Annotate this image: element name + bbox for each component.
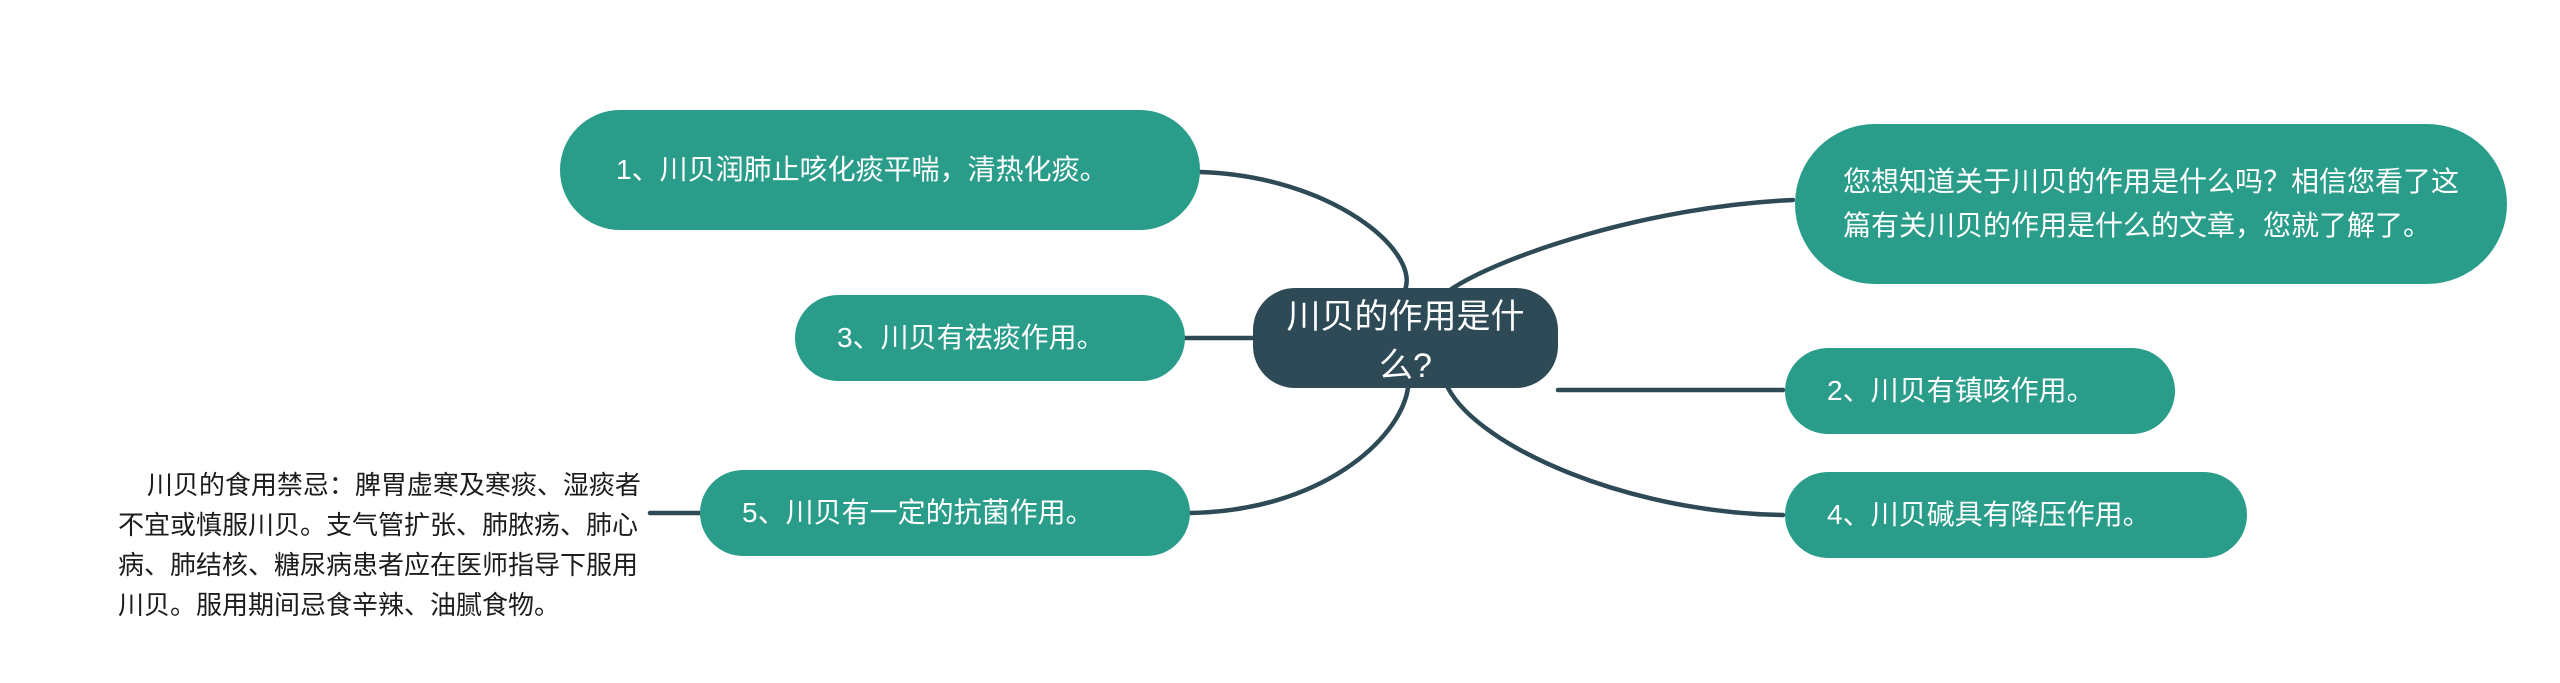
branch-node-label-point-5: 5、川贝有一定的抗菌作用。 xyxy=(742,493,1160,533)
taboo-note-label: 川贝的食用禁忌：脾胃虚寒及寒痰、湿痰者不宜或慎服川贝。支气管扩张、肺脓疡、肺心病… xyxy=(118,470,641,620)
branch-node-label-point-3: 3、川贝有祛痰作用。 xyxy=(837,318,1155,358)
branch-node-label-point-1: 1、川贝润肺止咳化痰平喘，清热化痰。 xyxy=(616,148,1160,192)
branch-node-point-3[interactable]: 3、川贝有祛痰作用。 xyxy=(795,295,1185,381)
taboo-note: 川贝的食用禁忌：脾胃虚寒及寒痰、湿痰者不宜或慎服川贝。支气管扩张、肺脓疡、肺心病… xyxy=(118,425,648,665)
branch-node-point-1[interactable]: 1、川贝润肺止咳化痰平喘，清热化痰。 xyxy=(560,110,1200,230)
branch-node-label-point-4: 4、川贝碱具有降压作用。 xyxy=(1827,495,2217,535)
branch-node-label-point-2: 2、川贝有镇咳作用。 xyxy=(1827,371,2145,411)
branch-node-label-intro: 您想知道关于川贝的作用是什么吗？相信您看了这篇有关川贝的作用是什么的文章，您就了… xyxy=(1843,160,2467,248)
root-to-point-5 xyxy=(1190,388,1408,513)
branch-node-point-2[interactable]: 2、川贝有镇咳作用。 xyxy=(1785,348,2175,434)
branch-node-point-5[interactable]: 5、川贝有一定的抗菌作用。 xyxy=(700,470,1190,556)
mindmap-canvas: 川贝的作用是什么? 您想知道关于川贝的作用是什么吗？相信您看了这篇有关川贝的作用… xyxy=(0,0,2560,683)
root-to-intro xyxy=(1450,200,1793,290)
root-node-label: 川贝的作用是什么? xyxy=(1279,289,1532,387)
branch-node-intro[interactable]: 您想知道关于川贝的作用是什么吗？相信您看了这篇有关川贝的作用是什么的文章，您就了… xyxy=(1795,124,2507,284)
root-to-point-4 xyxy=(1448,388,1783,515)
branch-node-point-4[interactable]: 4、川贝碱具有降压作用。 xyxy=(1785,472,2247,558)
root-node[interactable]: 川贝的作用是什么? xyxy=(1253,288,1558,388)
root-to-point-1 xyxy=(1200,172,1407,290)
